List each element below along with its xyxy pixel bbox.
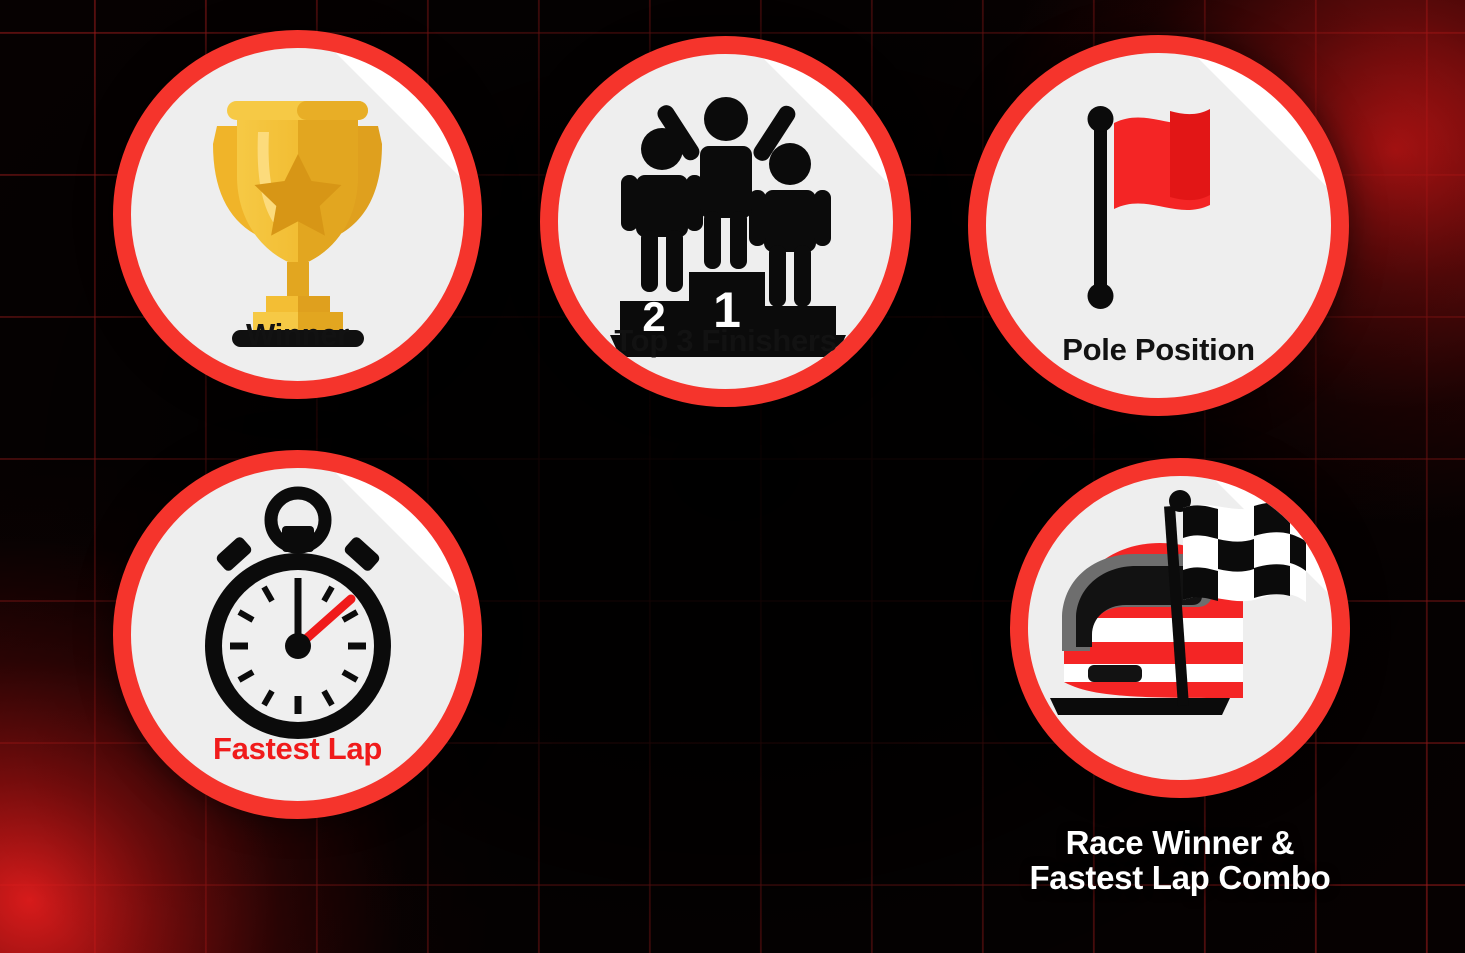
badge-race-winner-fastest-lap-combo[interactable]: Race Winner & Fastest Lap Combo [1010, 458, 1350, 798]
badge-disc[interactable] [1010, 458, 1350, 798]
badge-top-3-finishers[interactable]: 1 2 Top 3 Finishers [540, 36, 911, 407]
badge-label: Top 3 Finishers [540, 323, 911, 359]
badge-label-line1: Race Winner & [1010, 826, 1350, 861]
badge-label: Race Winner & Fastest Lap Combo [1010, 826, 1350, 896]
badge-label: Fastest Lap [113, 731, 482, 767]
badge-label-line2: Fastest Lap Combo [1010, 861, 1350, 896]
badge-pole-position[interactable]: Pole Position [968, 35, 1349, 416]
badge-label: Winner [113, 317, 482, 353]
badge-board: Winner [0, 0, 1465, 953]
helmet-checkered-flag-icon [1028, 476, 1332, 780]
badge-label: Pole Position [968, 332, 1349, 368]
badge-winner[interactable]: Winner [113, 30, 482, 399]
badge-fastest-lap[interactable]: Fastest Lap [113, 450, 482, 819]
